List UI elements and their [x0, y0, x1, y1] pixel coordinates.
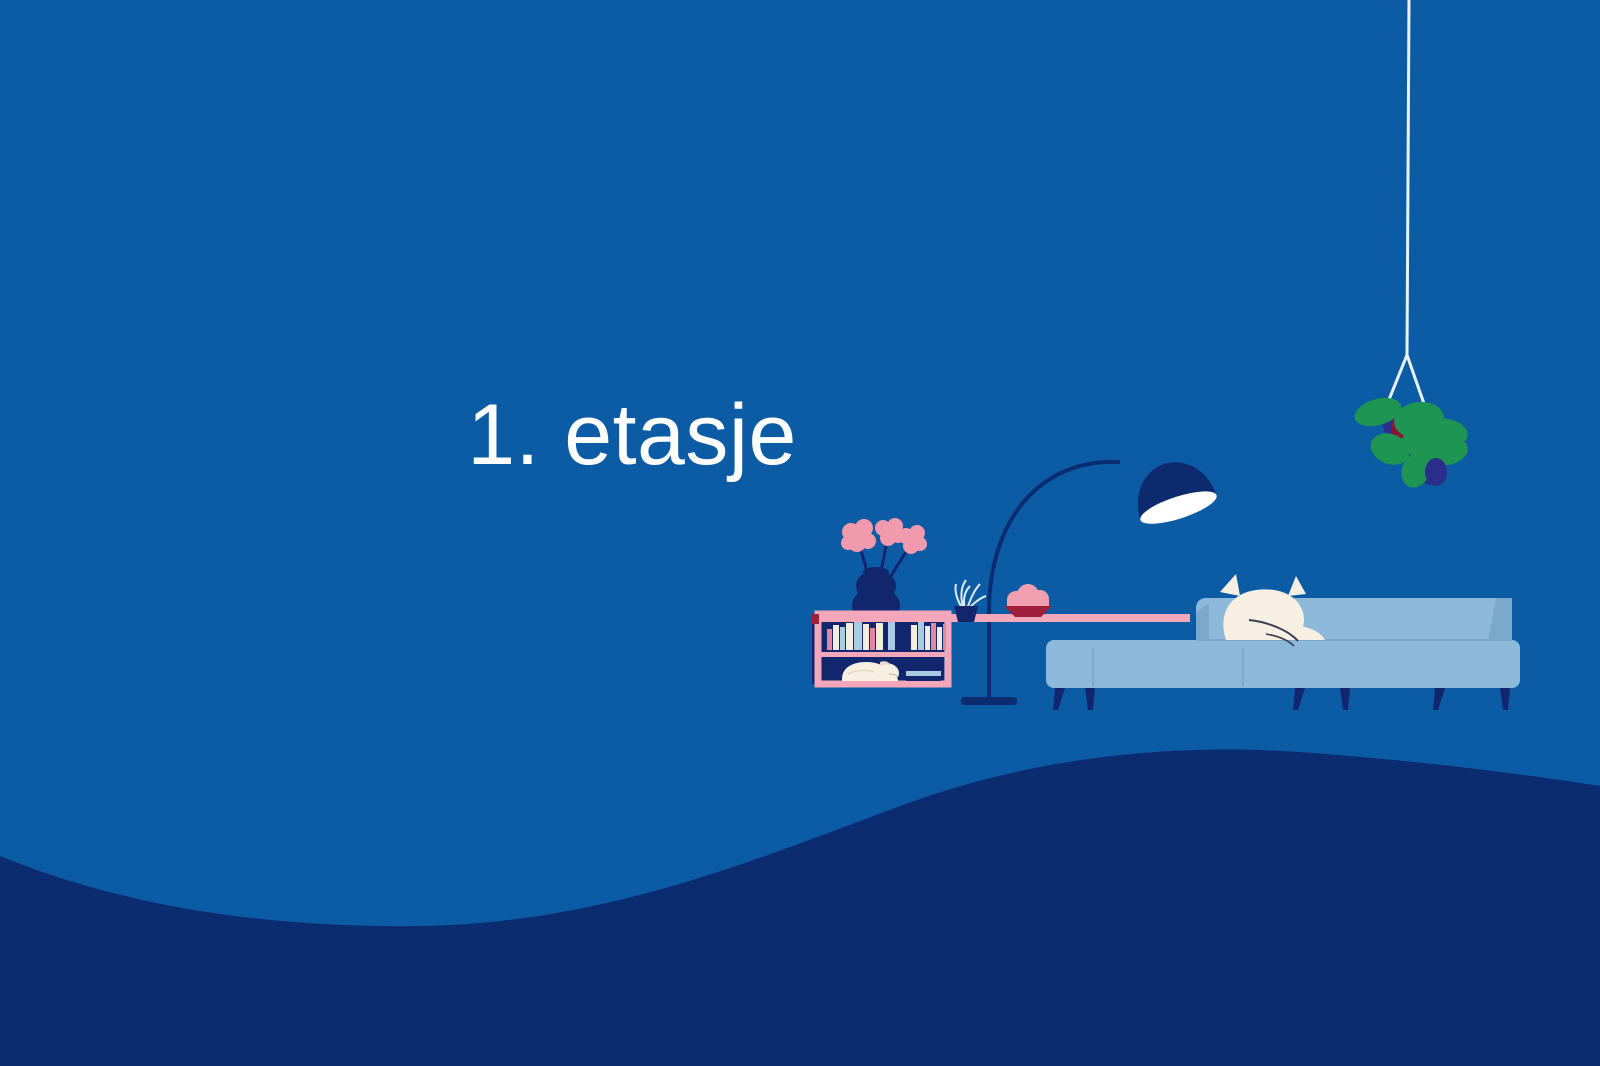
book [840, 627, 845, 650]
book [911, 625, 917, 650]
book [870, 628, 875, 650]
illustration-stage: 1. etasje [0, 0, 1600, 1066]
bookshelf-mid-divider [818, 652, 948, 657]
console-shelf-top [818, 614, 1190, 622]
book [888, 622, 895, 650]
hanging-plant-berry-purple-5 [1425, 458, 1447, 486]
book [937, 627, 942, 650]
book [827, 629, 832, 650]
bookshelf-stacked-books-2 [906, 677, 941, 681]
book [931, 623, 936, 650]
console-shelf-left-cap [812, 614, 819, 624]
book [846, 623, 853, 650]
bookshelf-stacked-books [906, 671, 941, 676]
bookshelf [812, 614, 948, 684]
book [943, 624, 946, 650]
lamp-base [961, 697, 1017, 705]
vase-rim [863, 567, 889, 577]
book [918, 621, 924, 650]
book [854, 621, 862, 650]
sofa-seat [1046, 640, 1520, 688]
book [863, 624, 869, 650]
book [925, 626, 930, 650]
hanging-plant-cord [1407, 0, 1409, 355]
living-room-scene [0, 0, 1600, 1066]
book [876, 623, 883, 650]
potted-plant-pot [954, 606, 978, 622]
book [833, 625, 839, 650]
